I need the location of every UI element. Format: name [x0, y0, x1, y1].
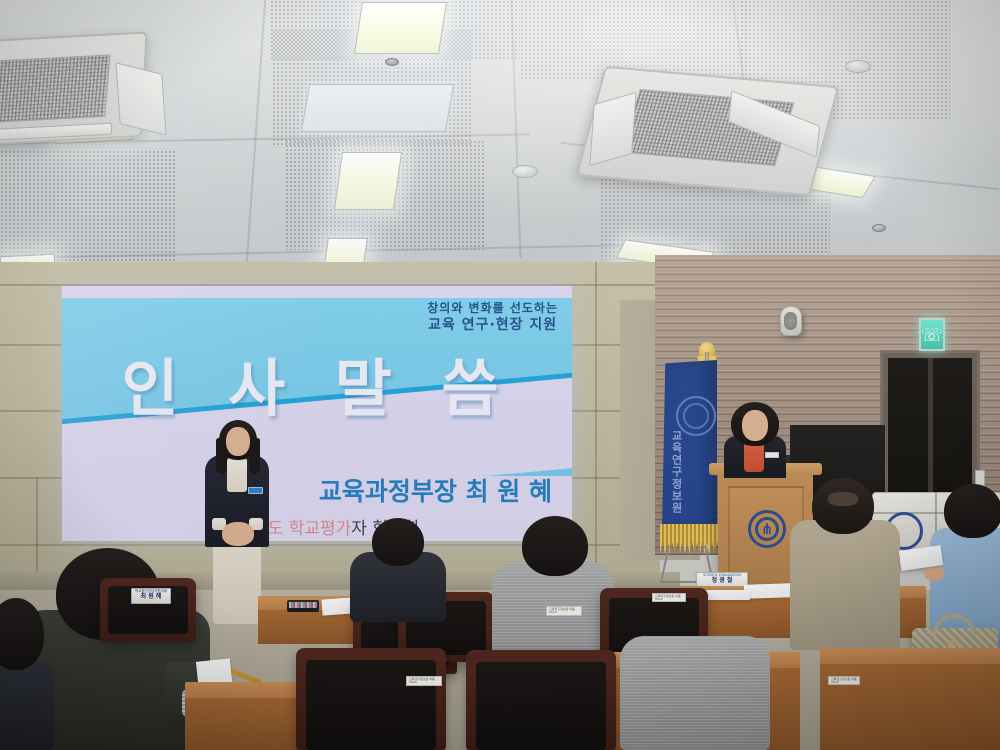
flag-text: 교육연구정보원 [668, 430, 684, 514]
podium-speaker-face [742, 410, 768, 441]
ceiling-led-panel [301, 84, 454, 132]
hand [924, 565, 944, 581]
sprinkler-head [385, 58, 399, 66]
smoke-detector [512, 165, 538, 178]
emblem-glyph: ⋔ [761, 520, 774, 538]
asset-label: 교육연구정보원 비품 2019 [652, 593, 686, 602]
chair-backrest [306, 660, 436, 750]
pencil-case-stripe [289, 602, 317, 608]
tan-jacket [790, 520, 900, 650]
head-hair [372, 518, 424, 566]
slide-header: 창의와 변화를 선도하는 교육 연구·현장 지원 [427, 300, 558, 335]
asset-label: 교육연구정보원 비품 2019 [406, 676, 442, 686]
presenter-hair-right [249, 438, 260, 474]
ceiling-led-panel [354, 2, 447, 54]
presenter-name-badge [248, 487, 263, 494]
presenter-clasped-hands [222, 522, 254, 546]
dark-jacket [0, 660, 54, 750]
sprinkler-head [872, 224, 886, 232]
paper-document [744, 583, 792, 599]
ac-vane [115, 62, 166, 136]
bald-spot [828, 492, 858, 506]
podium-speaker-badge [765, 452, 779, 458]
head-hair [522, 516, 588, 576]
smoke-detector [845, 60, 871, 73]
slide-title: 인 사 말 씀 [62, 338, 572, 428]
presenter-face [226, 427, 250, 456]
head-hair [812, 478, 874, 534]
ac-grille [0, 54, 111, 123]
nameplate: 학교평가담당자협의회 최 원 혜 [131, 588, 171, 604]
presenter-trousers [213, 538, 261, 624]
nameplate-name: 최 원 혜 [132, 594, 170, 600]
head-hair [944, 484, 1000, 538]
gray-sweater [620, 636, 770, 750]
exit-sign-icon: ☏ [919, 318, 945, 351]
ceiling-led-panel [334, 152, 402, 210]
running-man-icon: ☏ [921, 326, 944, 344]
nameplate-name: 정 광 철 [697, 578, 747, 584]
slide-subtitle: 교육과정부장 최 원 혜 [62, 472, 562, 508]
presenter-shirt [227, 458, 247, 492]
chair-backrest [476, 662, 606, 750]
slide-footer: 20학년도 학교평가자 협의회 [62, 514, 572, 539]
conference-room-photo: ☏ 창의와 변화를 선도하는 교육 연구·현장 지원 인 사 말 씀 교육과정부… [0, 0, 1000, 750]
slide-header-line2: 교육 연구·현장 지원 [427, 316, 558, 335]
slide-header-line1: 창의와 변화를 선도하는 [427, 300, 558, 316]
podium-emblem-icon: ⋔ [748, 510, 786, 548]
projection-screen: 창의와 변화를 선도하는 교육 연구·현장 지원 인 사 말 씀 교육과정부장 … [62, 286, 572, 541]
asset-label: 교육연구정보원 비품 2019 [828, 676, 860, 685]
speaker-grille-icon [784, 312, 797, 330]
asset-label: 교육연구정보원 비품 2019 [546, 606, 582, 616]
